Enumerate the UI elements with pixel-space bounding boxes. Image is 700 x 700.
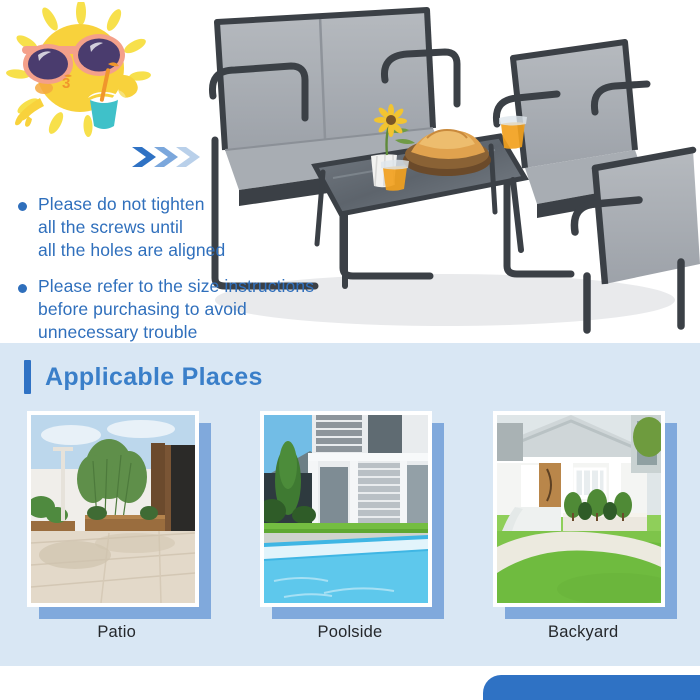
place-card-backyard: Backyard xyxy=(467,411,700,642)
applicable-places-section: Applicable Places xyxy=(0,343,700,666)
place-card-poolside: Poolside xyxy=(233,411,466,642)
bullet-dot-icon xyxy=(18,284,27,293)
place-caption: Backyard xyxy=(548,623,618,642)
list-item: Please refer to the size instructions be… xyxy=(18,275,418,343)
patio-photo xyxy=(31,415,195,603)
place-caption: Patio xyxy=(97,623,136,642)
page-title: Applicable Places xyxy=(45,363,263,392)
bullet-dot-icon xyxy=(18,202,27,211)
places-card-row: Patio xyxy=(0,411,700,642)
note-text: Please do not tighten all the screws unt… xyxy=(38,193,225,262)
instructions-section: 3 xyxy=(0,0,700,343)
section-heading: Applicable Places xyxy=(24,360,263,394)
note-text: Please refer to the size instructions be… xyxy=(38,275,314,343)
product-listing-page: 3 xyxy=(0,0,700,700)
photo-frame xyxy=(27,411,199,607)
photo-shell xyxy=(27,411,207,611)
list-item: Please do not tighten all the screws unt… xyxy=(18,193,418,262)
instruction-notes-list: Please do not tighten all the screws unt… xyxy=(18,193,418,343)
photo-shell xyxy=(260,411,440,611)
photo-frame xyxy=(493,411,665,607)
backyard-photo xyxy=(497,415,661,603)
bottom-accent-shape xyxy=(483,675,700,700)
heading-accent-bar xyxy=(24,360,31,394)
sun-with-sunglasses-icon: 3 xyxy=(4,2,164,142)
place-caption: Poolside xyxy=(317,623,382,642)
photo-frame xyxy=(260,411,432,607)
svg-text:3: 3 xyxy=(62,75,70,92)
poolside-photo xyxy=(264,415,428,603)
photo-shell xyxy=(493,411,673,611)
place-card-patio: Patio xyxy=(0,411,233,642)
